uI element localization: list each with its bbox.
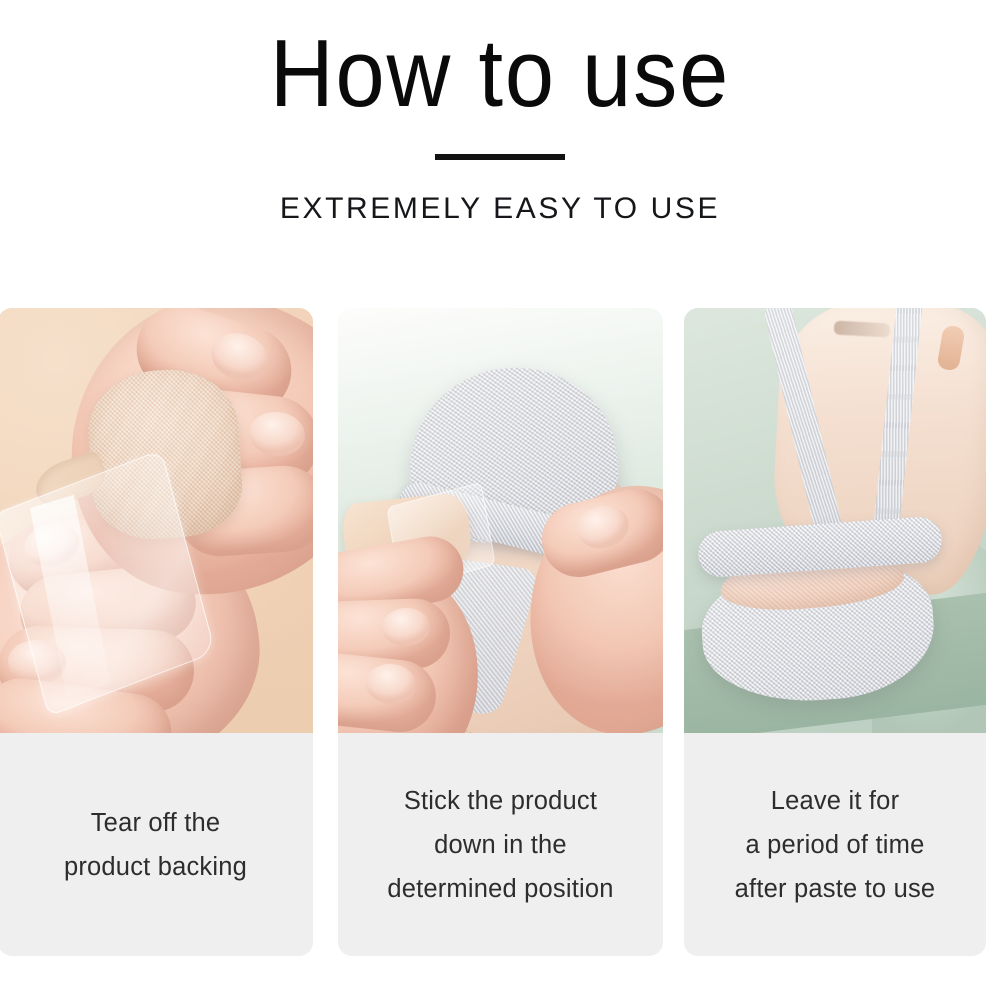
caption-line: determined position [387, 867, 613, 911]
caption-text: Tear off the product backing [64, 801, 247, 889]
brand-logo [834, 321, 891, 338]
step-3-caption: Leave it for a period of time after past… [684, 733, 986, 956]
step-2-photo [338, 308, 663, 733]
step-2-caption: Stick the product down in the determined… [338, 733, 663, 956]
steps-row: Tear off the product backing [0, 308, 1000, 956]
step-card-3: Leave it for a period of time after past… [684, 308, 986, 956]
step-card-1: Tear off the product backing [0, 308, 313, 956]
caption-line: Stick the product [387, 779, 613, 823]
caption-text: Stick the product down in the determined… [387, 779, 613, 911]
step-1-caption: Tear off the product backing [0, 733, 313, 956]
caption-line: product backing [64, 845, 247, 889]
caption-line: Tear off the [64, 801, 247, 845]
page-title: How to use [40, 0, 960, 128]
step-card-2: Stick the product down in the determined… [338, 308, 663, 956]
caption-line: after paste to use [735, 867, 936, 911]
caption-line: Leave it for [735, 779, 936, 823]
step-3-photo [684, 308, 986, 733]
caption-line: a period of time [735, 823, 936, 867]
caption-text: Leave it for a period of time after past… [735, 779, 936, 911]
page-subtitle: EXTREMELY EASY TO USE [0, 160, 1000, 227]
how-to-use-infographic: How to use EXTREMELY EASY TO USE [0, 0, 1000, 1000]
caption-line: down in the [387, 823, 613, 867]
step-1-photo [0, 308, 313, 733]
header: How to use EXTREMELY EASY TO USE [0, 0, 1000, 227]
